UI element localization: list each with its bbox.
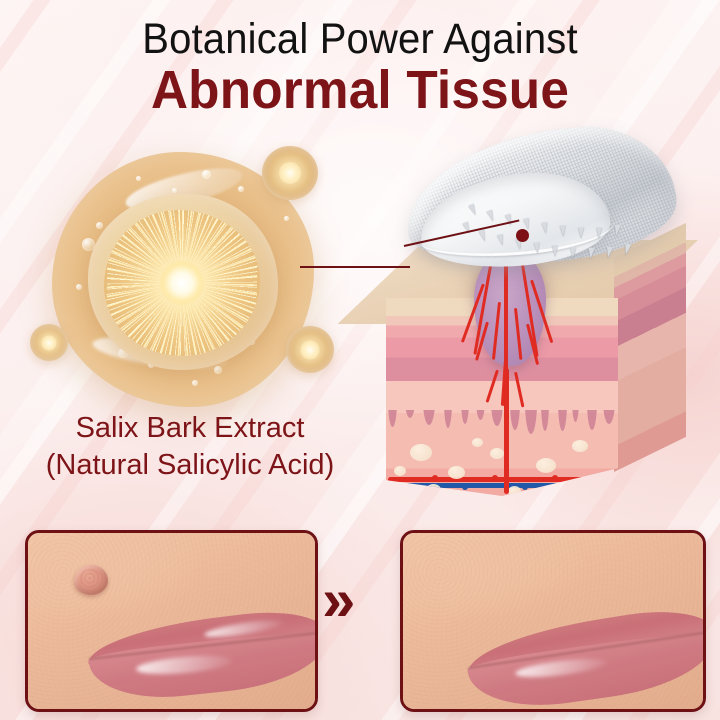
dermal-papilla bbox=[572, 410, 579, 422]
microneedle bbox=[587, 248, 594, 260]
golden-oil-droplet bbox=[30, 140, 340, 420]
ingredient-name: Salix Bark Extract bbox=[0, 410, 380, 447]
artery-line bbox=[388, 477, 616, 482]
dermal-papilla bbox=[491, 410, 503, 426]
fat-lobule bbox=[410, 444, 432, 461]
core-glow bbox=[160, 261, 204, 305]
after-photo bbox=[400, 530, 706, 712]
dermal-papilla bbox=[476, 410, 485, 420]
callout-connector-horizontal bbox=[300, 266, 410, 268]
fat-lobule bbox=[490, 448, 504, 459]
headline-line-1: Botanical Power Against bbox=[25, 14, 695, 64]
microneedle bbox=[570, 247, 576, 258]
ingredient-subtitle: (Natural Salicylic Acid) bbox=[0, 447, 380, 484]
oil-bubble bbox=[172, 188, 177, 193]
fat-lobule bbox=[508, 486, 521, 496]
vessel-dot bbox=[462, 484, 468, 490]
oil-bubble bbox=[192, 380, 198, 386]
vessel-dot bbox=[522, 484, 528, 490]
fat-lobule bbox=[472, 438, 483, 447]
subcutaneous-vessels bbox=[388, 474, 616, 490]
dermal-papilla bbox=[525, 410, 537, 434]
microneedle bbox=[560, 225, 567, 236]
dermal-papilla bbox=[405, 410, 415, 418]
dermal-papilla bbox=[388, 410, 397, 427]
microneedle bbox=[623, 243, 631, 255]
dermal-papilla bbox=[587, 410, 597, 430]
oil-bubble bbox=[214, 366, 222, 374]
fat-lobule bbox=[582, 480, 600, 494]
oil-bubble bbox=[76, 284, 82, 290]
vessel-dot bbox=[492, 475, 498, 481]
oil-bubble bbox=[238, 186, 244, 192]
dermal-papilla bbox=[603, 410, 615, 424]
fat-lobule bbox=[572, 440, 588, 452]
vein-line bbox=[388, 483, 616, 488]
dermal-papilla bbox=[444, 410, 452, 428]
vessel-dot bbox=[432, 475, 438, 481]
microneedle bbox=[578, 227, 584, 238]
headline-line-2: Abnormal Tissue bbox=[18, 60, 702, 120]
dermal-papilla bbox=[510, 410, 520, 430]
lesion-texture bbox=[78, 569, 104, 591]
before-photo bbox=[25, 530, 318, 712]
oil-bubble bbox=[284, 216, 289, 221]
fat-lobule bbox=[426, 484, 441, 496]
dermal-papilla bbox=[461, 410, 469, 424]
microneedle bbox=[552, 245, 558, 256]
skin-cross-section bbox=[378, 132, 720, 514]
microneedle bbox=[605, 247, 613, 259]
blood-vessel bbox=[492, 302, 501, 360]
microneedle bbox=[596, 227, 603, 238]
dermal-papilla bbox=[541, 410, 549, 431]
oil-bubble bbox=[202, 170, 211, 179]
satellite-core bbox=[42, 335, 57, 350]
satellite-droplet-top-right bbox=[262, 146, 318, 200]
dermal-papilla bbox=[423, 410, 435, 425]
microneedle-patch bbox=[406, 130, 686, 280]
dermal-papilla bbox=[558, 410, 567, 431]
ingredient-caption: Salix Bark Extract (Natural Salicylic Ac… bbox=[0, 410, 380, 484]
satellite-droplet-bottom-right bbox=[286, 326, 334, 373]
fat-lobule bbox=[536, 458, 556, 473]
callout-endpoint-dot bbox=[516, 229, 529, 242]
vessel-dot bbox=[582, 484, 588, 490]
microneedle bbox=[533, 242, 540, 254]
satellite-droplet-bottom-left bbox=[30, 324, 68, 361]
oil-droplet-core bbox=[104, 210, 260, 356]
promo-graphic: Botanical Power Against Abnormal Tissue bbox=[0, 0, 720, 720]
vessel-dot bbox=[402, 484, 408, 490]
progress-arrow: » bbox=[322, 570, 384, 632]
vessel-dot bbox=[552, 475, 558, 481]
fat-lobule bbox=[556, 494, 568, 503]
headline-block: Botanical Power Against Abnormal Tissue bbox=[0, 14, 720, 120]
skin-lesion-before bbox=[74, 565, 108, 595]
satellite-core bbox=[279, 162, 301, 184]
satellite-core bbox=[301, 340, 320, 359]
oil-bubble bbox=[96, 222, 103, 229]
fat-lobule bbox=[394, 466, 406, 476]
blood-vessel bbox=[514, 308, 522, 360]
fat-lobule bbox=[448, 466, 465, 479]
oil-bubble bbox=[136, 176, 141, 181]
